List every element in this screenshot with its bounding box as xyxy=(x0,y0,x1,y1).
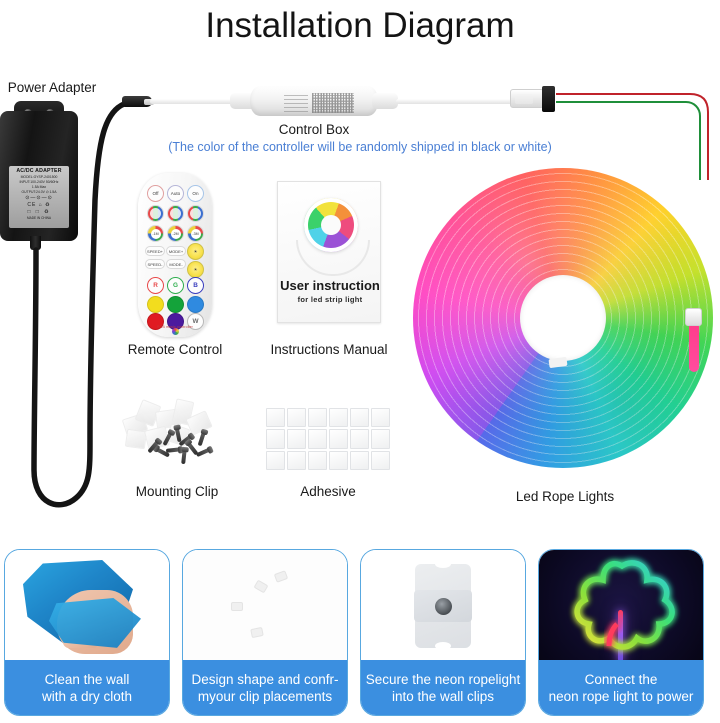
adhesive-pad xyxy=(329,451,348,470)
adhesive-pad xyxy=(350,451,369,470)
manual-cover-title: User instruction xyxy=(278,278,382,293)
remote-key-bars-3[interactable] xyxy=(187,205,204,222)
installation-diagram-page: Installation Diagram Power Adapter AC/DC… xyxy=(0,0,720,723)
step-1-caption: Clean the wall with a dry cloth xyxy=(5,660,169,715)
manual-cover-cord-image xyxy=(296,240,370,276)
adhesive-pad xyxy=(329,408,348,427)
remote-key-1m-label: -1M xyxy=(151,229,161,239)
screw xyxy=(181,448,187,464)
remote-key-on[interactable]: On xyxy=(187,185,204,202)
step-3-caption-line1: Secure the neon ropelight xyxy=(366,671,521,688)
neon-flower-icon xyxy=(539,550,703,662)
step-card-2: Design shape and confr- myour clip place… xyxy=(182,549,348,716)
adhesive-pad xyxy=(371,429,390,448)
adhesive-pad xyxy=(371,408,390,427)
remote-key-bars-1[interactable] xyxy=(147,205,164,222)
manual-cover: User instruction for led strip light xyxy=(277,181,381,323)
remote-key-bars-2[interactable] xyxy=(167,205,184,222)
remote-key-blue[interactable]: B xyxy=(187,277,204,294)
manual-cover-subtitle: for led strip light xyxy=(278,295,382,304)
adhesive-pad xyxy=(287,451,306,470)
wall-clip-shape xyxy=(415,564,471,648)
step-3-caption-line2: into the wall clips xyxy=(392,688,494,705)
step-1-caption-line1: Clean the wall xyxy=(45,671,130,688)
adhesive-pad xyxy=(308,451,327,470)
jst-connector xyxy=(510,86,570,112)
remote-key-2m-label: -2M xyxy=(171,229,181,239)
clip-notch-bottom xyxy=(435,642,451,650)
remote-key-brightness-down[interactable]: ☀ xyxy=(187,261,204,278)
adhesive-pad xyxy=(329,429,348,448)
adhesive-pad xyxy=(266,429,285,448)
clip-notch-top xyxy=(435,560,451,568)
connector-white-housing xyxy=(510,89,544,108)
mounting-clip-label: Mounting Clip xyxy=(118,484,236,499)
led-rope-light-coil xyxy=(413,168,713,468)
control-box-label: Control Box xyxy=(228,122,400,137)
mounting-clips xyxy=(122,400,234,472)
step-3-image xyxy=(361,550,525,662)
remote-key-blue-solid[interactable] xyxy=(187,296,204,313)
adhesive-pad xyxy=(287,429,306,448)
adapter-cable-gland xyxy=(30,236,41,250)
power-adapter: AC/DC ADAPTER MODEL:GYSP-2401500 INPUT:1… xyxy=(0,95,92,250)
remote-key-speed-up[interactable]: SPEED+ xyxy=(145,246,165,256)
remote-control[interactable]: Off Auto On -1M -2M -3M SPEED+ MODE+ ☀ S… xyxy=(138,173,212,337)
instructions-manual-label: Instructions Manual xyxy=(263,342,395,357)
remote-control-label: Remote Control xyxy=(118,342,232,357)
step-4-caption: Connect the neon rope light to power xyxy=(539,660,703,715)
wire-controlbox-to-connector xyxy=(396,99,514,104)
wall-surface xyxy=(183,550,347,662)
remote-key-off[interactable]: Off xyxy=(147,185,164,202)
remote-key-auto[interactable]: Auto xyxy=(167,185,184,202)
adhesive-label: Adhesive xyxy=(268,484,388,499)
remote-key-brightness-up[interactable]: ☀ xyxy=(187,243,204,260)
remote-logo-icon xyxy=(172,328,179,335)
step-card-3: Secure the neon ropelight into the wall … xyxy=(360,549,526,716)
step-2-caption: Design shape and confr- myour clip place… xyxy=(183,660,347,715)
step-3-caption: Secure the neon ropelight into the wall … xyxy=(361,660,525,715)
qr-code-icon xyxy=(312,93,354,113)
adapter-mark-icons: □ □ ♻ xyxy=(10,209,68,216)
step-4-image xyxy=(539,550,703,662)
remote-key-3m-label: -3M xyxy=(191,229,201,239)
adapter-polarity-icon: ⊙—⊙—⊙ xyxy=(10,195,68,202)
adhesive-pad xyxy=(266,408,285,427)
step-2-caption-line1: Design shape and confr- xyxy=(191,671,338,688)
connector-black-housing xyxy=(542,86,555,112)
remote-key-yellow[interactable] xyxy=(147,296,164,313)
coil-connector xyxy=(685,308,702,326)
remote-key-green-solid[interactable] xyxy=(167,296,184,313)
adapter-body: AC/DC ADAPTER MODEL:GYSP-2401500 INPUT:1… xyxy=(0,111,78,241)
power-adapter-label: Power Adapter xyxy=(0,80,112,95)
adapter-spec-label: AC/DC ADAPTER MODEL:GYSP-2401500 INPUT:1… xyxy=(9,166,69,228)
step-2-caption-line2: myour clip placements xyxy=(198,688,332,705)
step-1-image xyxy=(5,550,169,662)
remote-key-1m[interactable]: -1M xyxy=(147,225,164,242)
remote-key-green[interactable]: G xyxy=(167,277,184,294)
adhesive-pad xyxy=(308,429,327,448)
step-4-caption-line2: neon rope light to power xyxy=(549,688,694,705)
instructions-manual: User instruction for led strip light xyxy=(277,181,381,323)
led-rope-lights-label: Led Rope Lights xyxy=(495,489,635,504)
remote-key-3m[interactable]: -3M xyxy=(187,225,204,242)
control-box-print xyxy=(284,94,308,112)
page-title: Installation Diagram xyxy=(0,6,720,46)
dc-barrel-plug xyxy=(104,96,152,107)
screw xyxy=(196,447,212,457)
adhesive-pad xyxy=(287,408,306,427)
wire-plug-to-controlbox xyxy=(150,99,234,104)
adhesive-pad xyxy=(266,451,285,470)
adhesive-pad xyxy=(308,408,327,427)
adhesive-pad xyxy=(350,429,369,448)
control-box-strain-relief-right xyxy=(372,93,398,109)
adhesive-pads xyxy=(266,408,390,470)
remote-key-speed-down[interactable]: SPEED- xyxy=(145,259,165,269)
adapter-origin: MADE IN CHINA xyxy=(10,216,68,221)
adhesive-pad xyxy=(371,451,390,470)
adapter-spec-title: AC/DC ADAPTER xyxy=(10,168,68,175)
step-1-caption-line2: with a dry cloth xyxy=(42,688,132,705)
step-4-caption-line1: Connect the xyxy=(585,671,658,688)
step-card-1: Clean the wall with a dry cloth xyxy=(4,549,170,716)
coil-lead-wire xyxy=(689,320,699,372)
step-2-image xyxy=(183,550,347,662)
control-box-body xyxy=(250,86,378,116)
remote-key-2m[interactable]: -2M xyxy=(167,225,184,242)
coil-hub xyxy=(520,275,606,361)
remote-key-mode-down[interactable]: MODE- xyxy=(166,259,186,269)
adapter-cert-icons: CE ⌂ ♻ xyxy=(10,202,68,209)
mini-clip xyxy=(231,602,243,611)
control-box-note: (The color of the controller will be ran… xyxy=(60,140,660,154)
remote-key-mode-up[interactable]: MODE+ xyxy=(166,246,186,256)
screw xyxy=(166,447,182,453)
adhesive-pad xyxy=(350,408,369,427)
step-card-4: Connect the neon rope light to power xyxy=(538,549,704,716)
remote-key-red[interactable]: R xyxy=(147,277,164,294)
control-box xyxy=(228,84,400,118)
